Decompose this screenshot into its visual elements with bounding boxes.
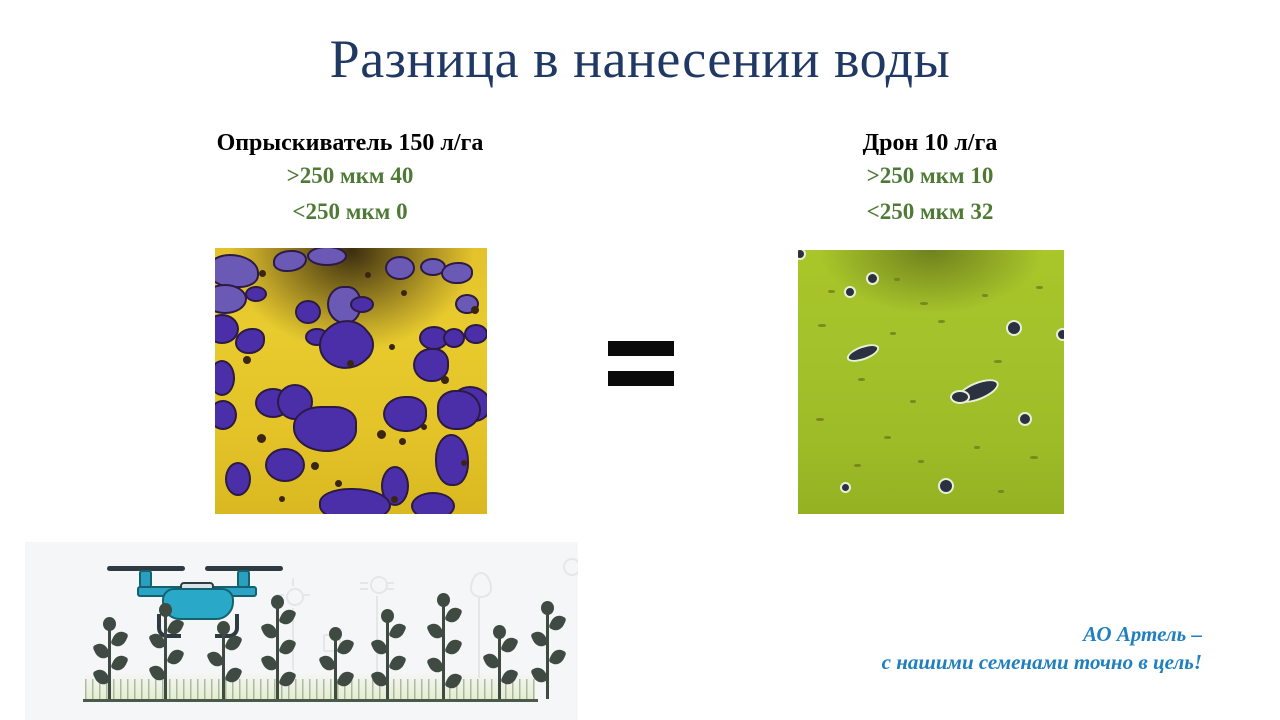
signature-line-1: АО Артель – xyxy=(882,620,1202,648)
right-stat-above-250: >250 мкм 10 xyxy=(740,158,1120,194)
equals-sign xyxy=(608,341,674,386)
drone-icon xyxy=(107,556,287,646)
left-column-heading: Опрыскиватель 150 л/га xyxy=(120,128,580,158)
right-stat-below-250: <250 мкм 32 xyxy=(740,194,1120,230)
signature-line-2: с нашими семенами точно в цель! xyxy=(882,648,1202,676)
comparison-column-right: Дрон 10 л/га >250 мкм 10 <250 мкм 32 xyxy=(740,128,1120,230)
company-signature: АО Артель – с нашими семенами точно в це… xyxy=(882,620,1202,676)
sprayer-sample-image xyxy=(215,248,487,514)
comparison-column-left: Опрыскиватель 150 л/га >250 мкм 40 <250 … xyxy=(120,128,580,230)
equals-bar-bottom xyxy=(608,371,674,386)
left-stat-below-250: <250 мкм 0 xyxy=(120,194,580,230)
page-title: Разница в нанесении воды xyxy=(0,28,1280,90)
right-column-heading: Дрон 10 л/га xyxy=(740,128,1120,158)
ground-line xyxy=(83,699,538,702)
drone-field-illustration xyxy=(25,542,578,720)
equals-bar-top xyxy=(608,341,674,356)
left-stat-above-250: >250 мкм 40 xyxy=(120,158,580,194)
grass-tufts xyxy=(85,679,535,699)
drone-sample-image xyxy=(798,250,1064,514)
